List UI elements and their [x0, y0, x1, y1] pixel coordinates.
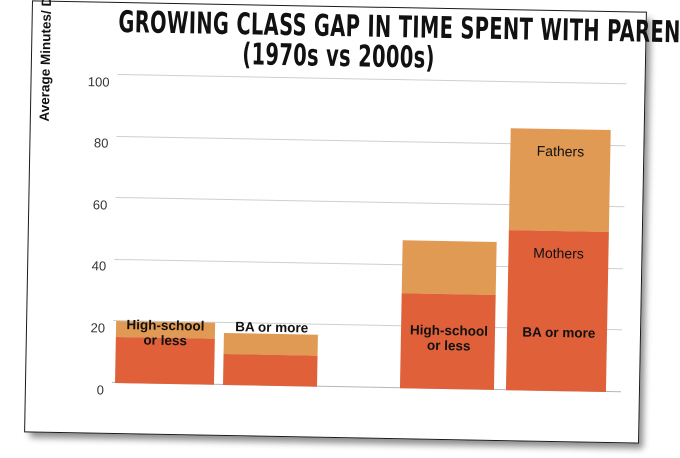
y-tick-label-0: 0: [97, 382, 104, 383]
chart-frame: GROWING CLASS GAP IN TIME SPENT WITH PAR…: [24, 0, 647, 443]
bar-2-segment-mothers[interactable]: [223, 354, 318, 387]
bar-2[interactable]: [223, 333, 318, 387]
series-annotation-mothers: Mothers: [509, 244, 609, 262]
y-tick-label-100: 100: [88, 74, 110, 75]
x-axis-category-3: High-schoolor less: [387, 322, 510, 354]
x-tick-label-line1: BA or more: [210, 319, 333, 336]
screenshot-canvas: GROWING CLASS GAP IN TIME SPENT WITH PAR…: [0, 0, 680, 458]
bar-4-segment-fathers[interactable]: Fathers: [509, 128, 610, 231]
x-axis-category-2: BA or more: [210, 319, 333, 336]
y-tick-label-60: 60: [93, 197, 107, 198]
y-tick-label-40: 40: [92, 259, 106, 260]
bar-2-segment-fathers[interactable]: [224, 333, 319, 356]
x-tick-label-line2: or less: [387, 337, 510, 354]
chart-subtitle: (1970s vs 2000s): [118, 37, 560, 76]
x-tick-label-line2: or less: [101, 332, 229, 349]
x-tick-label-line1: BA or more: [495, 324, 623, 341]
series-annotation-fathers: Fathers: [511, 142, 611, 160]
chart-figure: GROWING CLASS GAP IN TIME SPENT WITH PAR…: [25, 1, 646, 442]
y-tick-label-80: 80: [94, 135, 108, 136]
y-axis-label: Average Minutes/ Day: [37, 0, 55, 132]
x-axis-category-4: BA or more: [495, 324, 623, 341]
bar-3-segment-fathers[interactable]: [401, 240, 496, 294]
bar-4[interactable]: FathersMothers: [506, 128, 610, 392]
bar-3[interactable]: [400, 240, 497, 390]
chart-title-block: GROWING CLASS GAP IN TIME SPENT WITH PAR…: [32, 5, 646, 78]
bar-4-segment-mothers[interactable]: Mothers: [506, 230, 608, 392]
